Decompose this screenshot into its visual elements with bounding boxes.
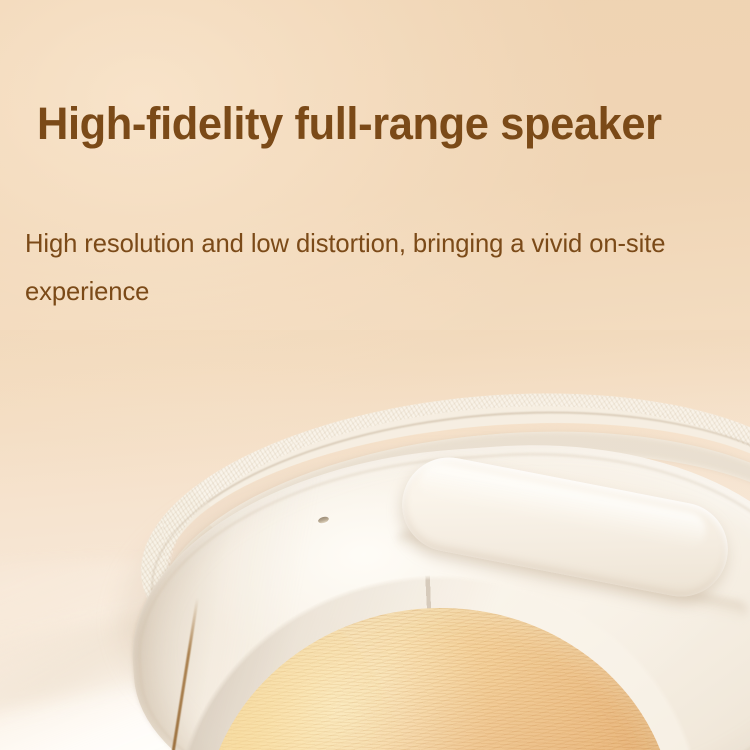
product-feature-banner: High-fidelity full-range speaker High re…: [0, 0, 750, 750]
banner-subtitle: High resolution and low distortion, brin…: [25, 219, 715, 315]
product-photo: [0, 330, 750, 750]
banner-headline: High-fidelity full-range speaker: [37, 99, 662, 149]
driver-disc: [192, 596, 686, 750]
